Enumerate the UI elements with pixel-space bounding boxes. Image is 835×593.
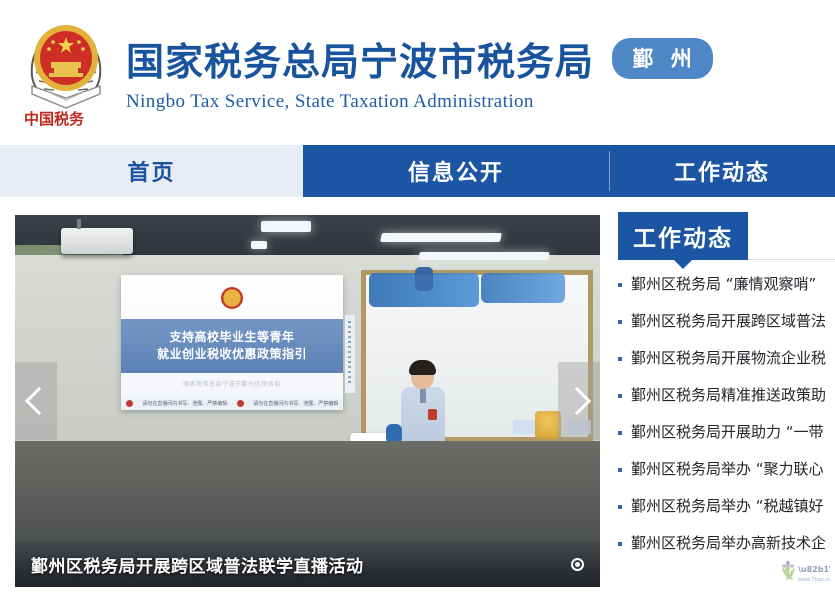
slide-subtitle: 国家税务总局宁波市鄞州区税务局	[121, 379, 343, 388]
projector-icon	[61, 228, 133, 254]
slide-title-line2: 就业创业税收优惠政策指引	[157, 346, 307, 363]
carousel-indicator-dot[interactable]	[571, 558, 584, 571]
carousel-indicators	[571, 558, 584, 571]
slide-footer: 请勿在直播间内书写、泄露、严禁编辑 请勿在直播间内书写、泄露、严禁编辑	[121, 397, 343, 410]
ceiling-light	[261, 221, 311, 232]
list-item[interactable]: 鄞州区税务局精准推送政策助	[618, 385, 835, 422]
bullet-icon	[618, 431, 622, 435]
svg-text:中国税务: 中国税务	[24, 110, 85, 128]
list-item-title: 鄞州区税务局开展跨区域普法	[631, 311, 826, 332]
nav-item-home-label: 首页	[127, 155, 175, 187]
list-item-title: 鄞州区税务局 “廉情观察哨”	[631, 274, 816, 295]
bullet-icon	[618, 468, 622, 472]
site-title-cn: 国家税务总局宁波市税务局	[126, 39, 594, 85]
bullet-icon	[618, 542, 622, 546]
list-item-title: 鄞州区税务局开展物流企业税	[631, 348, 826, 369]
list-item-title: 鄞州区税务局开展助力 “一带	[631, 422, 824, 443]
nav-item-information-disclosure-label: 信息公开	[408, 155, 504, 187]
bullet-icon	[618, 505, 622, 509]
region-badge: 鄞 州	[612, 38, 712, 79]
ceiling-light	[418, 252, 549, 260]
carousel-caption: 鄞州区税务局开展跨区域普法联学直播活动	[31, 552, 364, 577]
work-updates-list: 鄞州区税务局 “廉情观察哨” 鄞州区税务局开展跨区域普法 鄞州区税务局开展物流企…	[618, 274, 835, 570]
board-banner-left	[369, 273, 479, 307]
slide-emblem-icon	[221, 287, 243, 309]
carousel-next-button[interactable]	[558, 362, 600, 440]
page-root: 中国税务 国家税务总局宁波市税务局 鄞 州 Ningbo Tax Service…	[0, 0, 835, 593]
carousel-prev-button[interactable]	[15, 362, 57, 440]
work-updates-header: 工作动态	[618, 212, 748, 260]
list-item[interactable]: 鄞州区税务局举办高新技术企	[618, 533, 835, 570]
slide-footer-right: 请勿在直播间内书写、泄露、严禁编辑	[253, 400, 338, 407]
list-item[interactable]: 鄞州区税务局举办 “税越镇好	[618, 496, 835, 533]
main-content: 支持高校毕业生等青年 就业创业税收优惠政策指引 国家税务总局宁波市鄞州区税务局 …	[0, 197, 835, 593]
chevron-left-icon	[24, 387, 52, 415]
slide-title-band: 支持高校毕业生等青年 就业创业税收优惠政策指引	[121, 319, 343, 373]
warning-icon	[237, 400, 244, 407]
list-item[interactable]: 鄞州区税务局开展跨区域普法	[618, 311, 835, 348]
site-title-en: Ningbo Tax Service, State Taxation Admin…	[126, 91, 713, 113]
warning-icon	[126, 400, 133, 407]
ceiling-light	[251, 241, 267, 249]
list-item[interactable]: 鄞州区税务局开展助力 “一带	[618, 422, 835, 459]
work-updates-panel: 工作动态 鄞州区税务局 “廉情观察哨” 鄞州区税务局开展跨区域普法 鄞州区税务局…	[618, 212, 835, 592]
chevron-right-icon	[562, 387, 590, 415]
board-poster	[513, 420, 537, 434]
work-updates-title: 工作动态	[633, 219, 733, 253]
carousel-slide-photo: 支持高校毕业生等青年 就业创业税收优惠政策指引 国家税务总局宁波市鄞州区税务局 …	[15, 215, 600, 587]
bullet-icon	[618, 357, 622, 361]
hero-carousel[interactable]: 支持高校毕业生等青年 就业创业税收优惠政策指引 国家税务总局宁波市鄞州区税务局 …	[15, 215, 600, 587]
ceiling-light	[380, 233, 502, 242]
header-rule	[748, 259, 835, 260]
list-item-title: 鄞州区税务局精准推送政策助	[631, 385, 826, 406]
slide-footer-left: 请勿在直播间内书写、泄露、严禁编辑	[142, 400, 227, 407]
bullet-icon	[618, 394, 622, 398]
nav-item-information-disclosure[interactable]: 信息公开	[303, 145, 609, 197]
board-banner-right	[481, 273, 565, 303]
list-item-title: 鄞州区税务局举办 “税越镇好	[631, 496, 824, 517]
bullet-icon	[618, 320, 622, 324]
side-banner	[345, 315, 355, 393]
bullet-icon	[618, 283, 622, 287]
nav-item-work-updates[interactable]: 工作动态	[609, 145, 835, 197]
projection-screen: 支持高校毕业生等青年 就业创业税收优惠政策指引 国家税务总局宁波市鄞州区税务局 …	[121, 275, 343, 410]
nav-item-work-updates-label: 工作动态	[674, 155, 770, 187]
slide-title-line1: 支持高校毕业生等青年	[169, 329, 294, 346]
china-tax-emblem-icon: 中国税务	[18, 12, 114, 130]
nav-item-home[interactable]: 首页	[0, 145, 303, 197]
list-item-title: 鄞州区税务局举办 “聚力联心	[631, 459, 824, 480]
site-header: 中国税务 国家税务总局宁波市税务局 鄞 州 Ningbo Tax Service…	[0, 0, 835, 143]
main-nav: 首页 信息公开 工作动态	[0, 145, 835, 197]
list-item-title: 鄞州区税务局举办高新技术企	[631, 533, 826, 554]
list-item[interactable]: 鄞州区税务局 “廉情观察哨”	[618, 274, 835, 311]
carousel-caption-bar: 鄞州区税务局开展跨区域普法联学直播活动	[15, 541, 600, 587]
list-item[interactable]: 鄞州区税务局举办 “聚力联心	[618, 459, 835, 496]
site-title-block: 国家税务总局宁波市税务局 鄞 州 Ningbo Tax Service, Sta…	[126, 38, 713, 113]
list-item[interactable]: 鄞州区税务局开展物流企业税	[618, 348, 835, 385]
